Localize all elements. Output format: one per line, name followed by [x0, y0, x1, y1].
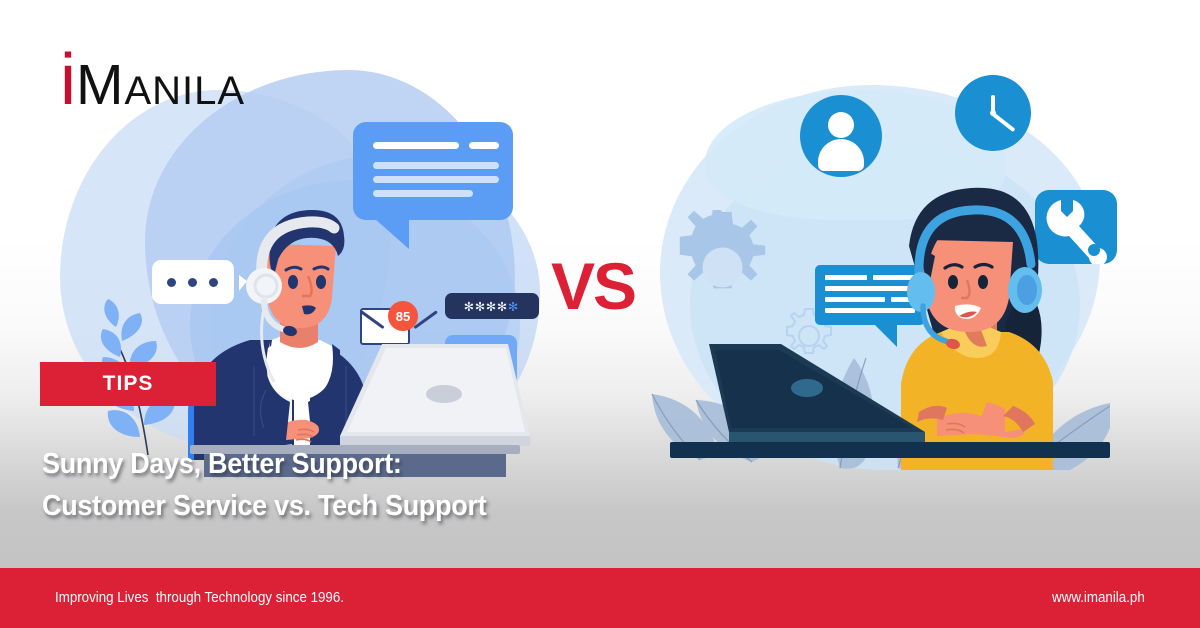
- desk-right: [670, 442, 1110, 464]
- password-mask: ✻✻✻✻: [464, 297, 508, 316]
- headline-line-2: Customer Service vs. Tech Support: [42, 485, 486, 527]
- user-avatar-icon: [800, 95, 882, 177]
- chat-line: [469, 142, 499, 149]
- laptop-dark: [685, 340, 925, 450]
- page-title: Sunny Days, Better Support: Customer Ser…: [42, 443, 486, 527]
- tips-badge-label: TIPS: [103, 372, 154, 396]
- clock-center-pin: [990, 110, 996, 116]
- avatar-body: [818, 139, 864, 171]
- chat-line: [373, 142, 459, 149]
- banner-canvas: 85 ✻✻✻✻✻: [0, 0, 1200, 628]
- laptop-silver: [340, 338, 530, 450]
- email-count-badge: 85: [388, 301, 418, 331]
- chat-line: [825, 275, 867, 280]
- imanila-logo[interactable]: i Manila: [60, 48, 245, 114]
- clock-icon: [955, 75, 1031, 151]
- chat-line: [373, 162, 499, 169]
- password-mask-last: ✻: [509, 297, 520, 316]
- clock-minute-hand: [992, 112, 1016, 132]
- logo-initial: i: [60, 48, 76, 113]
- typing-dot: [167, 278, 176, 287]
- tech-support-illustration: [650, 60, 1120, 470]
- tips-category-badge[interactable]: TIPS: [40, 362, 216, 406]
- avatar-head: [828, 112, 854, 138]
- footer-website-link[interactable]: www.imanila.ph: [1052, 590, 1145, 606]
- footer-tagline: Improving Lives through Technology since…: [55, 590, 344, 606]
- chat-line: [373, 176, 499, 183]
- customer-service-illustration: 85 ✻✻✻✻✻: [40, 60, 560, 470]
- desk-top: [670, 442, 1110, 458]
- versus-label: VS: [551, 253, 635, 319]
- footer-bar: Improving Lives through Technology since…: [0, 568, 1200, 628]
- password-field-icon: ✻✻✻✻✻: [445, 293, 539, 319]
- headline-line-1: Sunny Days, Better Support:: [42, 443, 486, 485]
- logo-wordmark: Manila: [76, 57, 245, 114]
